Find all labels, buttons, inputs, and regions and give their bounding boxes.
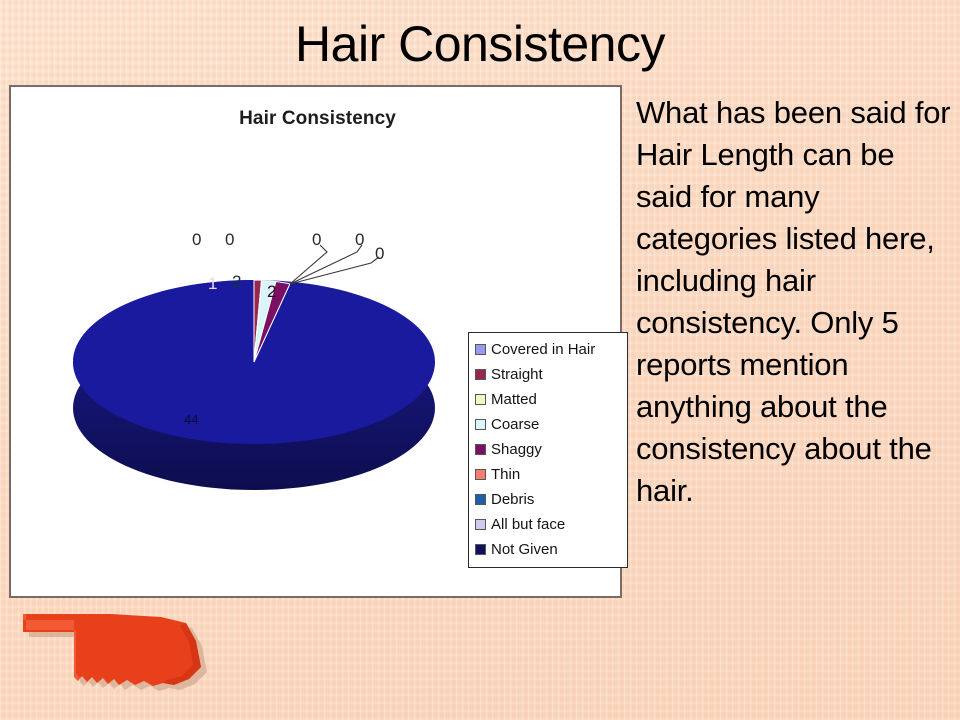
pie-leader-lines bbox=[59, 222, 449, 522]
pie-label-straight: 1 bbox=[208, 274, 217, 294]
legend-item-covered-in-hair[interactable]: Covered in Hair bbox=[475, 337, 622, 362]
legend-label: Coarse bbox=[491, 417, 539, 432]
legend-swatch-icon bbox=[475, 519, 486, 530]
pie-label-matted: 0 bbox=[225, 230, 234, 250]
legend-label: Shaggy bbox=[491, 442, 542, 457]
legend-label: Debris bbox=[491, 492, 534, 507]
legend-swatch-icon bbox=[475, 344, 486, 355]
legend-label: Matted bbox=[491, 392, 537, 407]
pie-label-debris: 0 bbox=[355, 230, 364, 250]
pie-label-covered-in-hair: 0 bbox=[192, 230, 201, 250]
legend-label: Not Given bbox=[491, 542, 558, 557]
chart-title: Hair Consistency bbox=[11, 108, 624, 130]
pie-label-thin: 0 bbox=[312, 230, 321, 250]
legend-swatch-icon bbox=[475, 544, 486, 555]
pie-label-shaggy: 2 bbox=[267, 282, 276, 302]
legend-label: All but face bbox=[491, 517, 565, 532]
pie-chart: 0 0 1 2 2 0 0 0 44 bbox=[59, 222, 449, 522]
pie-label-not-given: 44 bbox=[184, 412, 198, 427]
legend-swatch-icon bbox=[475, 469, 486, 480]
legend-item-all-but-face[interactable]: All but face bbox=[475, 512, 622, 537]
legend-swatch-icon bbox=[475, 369, 486, 380]
legend-label: Covered in Hair bbox=[491, 342, 595, 357]
legend-item-thin[interactable]: Thin bbox=[475, 462, 622, 487]
pie-label-coarse: 2 bbox=[232, 272, 241, 292]
legend-item-shaggy[interactable]: Shaggy bbox=[475, 437, 622, 462]
legend-swatch-icon bbox=[475, 494, 486, 505]
pie-label-all-but-face: 0 bbox=[375, 244, 384, 264]
slide-canvas: Hair Consistency Hair Consistency bbox=[0, 0, 960, 720]
chart-panel: Hair Consistency bbox=[9, 85, 622, 598]
legend-swatch-icon bbox=[475, 419, 486, 430]
legend-item-not-given[interactable]: Not Given bbox=[475, 537, 622, 562]
chart-legend: Covered in Hair Straight Matted Coarse S… bbox=[468, 332, 628, 568]
oklahoma-state-shape-icon bbox=[12, 604, 228, 714]
oklahoma-highlight bbox=[23, 614, 80, 681]
legend-swatch-icon bbox=[475, 444, 486, 455]
legend-item-debris[interactable]: Debris bbox=[475, 487, 622, 512]
legend-item-straight[interactable]: Straight bbox=[475, 362, 622, 387]
legend-swatch-icon bbox=[475, 394, 486, 405]
body-text: What has been said for Hair Length can b… bbox=[636, 92, 954, 512]
legend-item-matted[interactable]: Matted bbox=[475, 387, 622, 412]
legend-label: Straight bbox=[491, 367, 543, 382]
page-title: Hair Consistency bbox=[0, 16, 960, 72]
legend-label: Thin bbox=[491, 467, 520, 482]
legend-item-coarse[interactable]: Coarse bbox=[475, 412, 622, 437]
